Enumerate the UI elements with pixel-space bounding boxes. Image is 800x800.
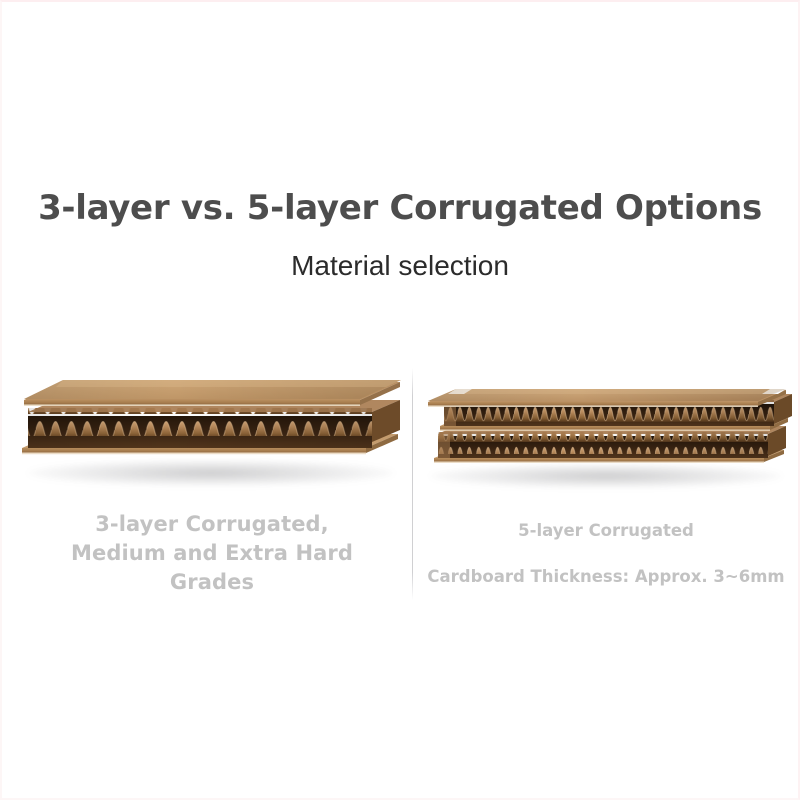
board-ground-shadow (430, 464, 782, 488)
board-ground-shadow (28, 460, 394, 486)
page-subtitle: Material selection (2, 250, 798, 282)
poster-canvas: 3-layer vs. 5-layer Corrugated Options M… (0, 0, 800, 800)
caption-line: 5-layer Corrugated (518, 521, 694, 540)
vertical-divider (412, 368, 413, 600)
five-layer-board-stage (420, 342, 792, 492)
page-title: 3-layer vs. 5-layer Corrugated Options (2, 188, 798, 228)
three-layer-board-stage (20, 342, 404, 492)
caption-line: 3-layer Corrugated, (20, 510, 404, 539)
caption-line: Medium and Extra Hard (20, 539, 404, 568)
panel-three-layer[interactable]: 3-layer Corrugated, Medium and Extra Har… (20, 342, 404, 492)
caption-line: Cardboard Thickness: Approx. 3~6mm (427, 567, 784, 586)
caption-five-layer-detail: Cardboard Thickness: Approx. 3~6mm (420, 566, 792, 588)
caption-three-layer: 3-layer Corrugated, Medium and Extra Har… (20, 510, 404, 597)
panel-five-layer[interactable]: 5-layer Corrugated Cardboard Thickness: … (420, 342, 792, 492)
caption-line: Grades (20, 568, 404, 597)
caption-five-layer-title: 5-layer Corrugated (420, 520, 792, 542)
comparison-panels: 3-layer Corrugated, Medium and Extra Har… (2, 342, 800, 622)
